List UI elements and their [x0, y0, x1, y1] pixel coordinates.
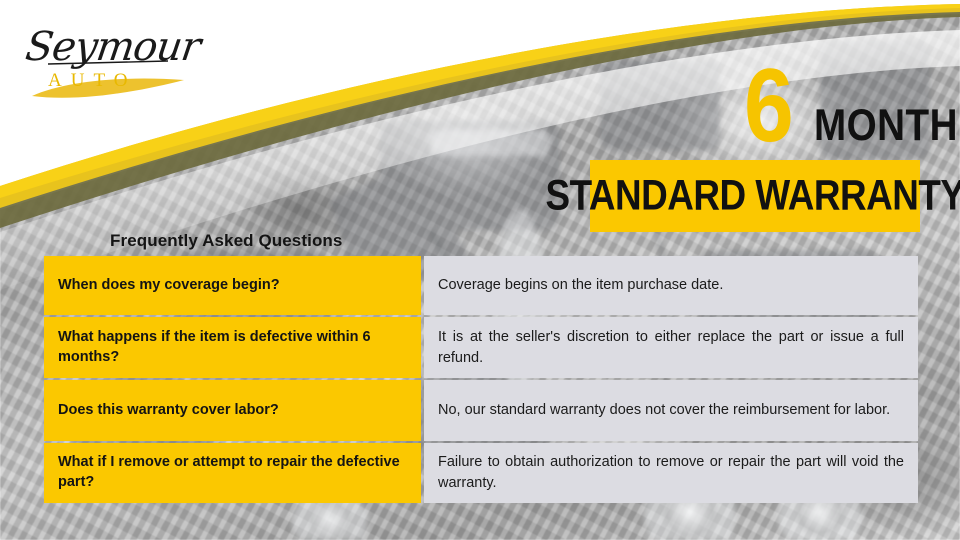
faq-answer-cell: It is at the seller's discretion to eith…: [424, 317, 918, 378]
faq-question-cell: Does this warranty cover labor?: [44, 380, 421, 441]
faq-answer-cell: No, our standard warranty does not cover…: [424, 380, 918, 441]
logo-wordmark: Seymour: [23, 24, 203, 70]
duration-unit: MONTH: [814, 103, 958, 147]
faq-question-cell: What happens if the item is defective wi…: [44, 317, 421, 378]
faq-question-cell: What if I remove or attempt to repair th…: [44, 443, 421, 503]
faq-answer-cell: Coverage begins on the item purchase dat…: [424, 256, 918, 315]
faq-question-cell: When does my coverage begin?: [44, 256, 421, 315]
duration-number: 6: [744, 54, 792, 158]
logo-subtext: AUTO: [48, 70, 136, 92]
table-row: What happens if the item is defective wi…: [44, 317, 918, 378]
table-row: Does this warranty cover labor? No, our …: [44, 380, 918, 441]
faq-answer-cell: Failure to obtain authorization to remov…: [424, 443, 918, 503]
table-row: When does my coverage begin? Coverage be…: [44, 256, 918, 315]
faq-table: When does my coverage begin? Coverage be…: [44, 256, 918, 505]
standard-warranty-banner: STANDARD WARRANTY: [590, 160, 920, 232]
warranty-slide: Seymour AUTO 6 MONTH STANDARD WARRANTY F…: [0, 0, 960, 540]
seymour-auto-logo[interactable]: Seymour AUTO: [18, 18, 198, 110]
faq-heading: Frequently Asked Questions: [110, 231, 342, 251]
standard-warranty-label: STANDARD WARRANTY: [545, 175, 960, 218]
table-row: What if I remove or attempt to repair th…: [44, 443, 918, 503]
